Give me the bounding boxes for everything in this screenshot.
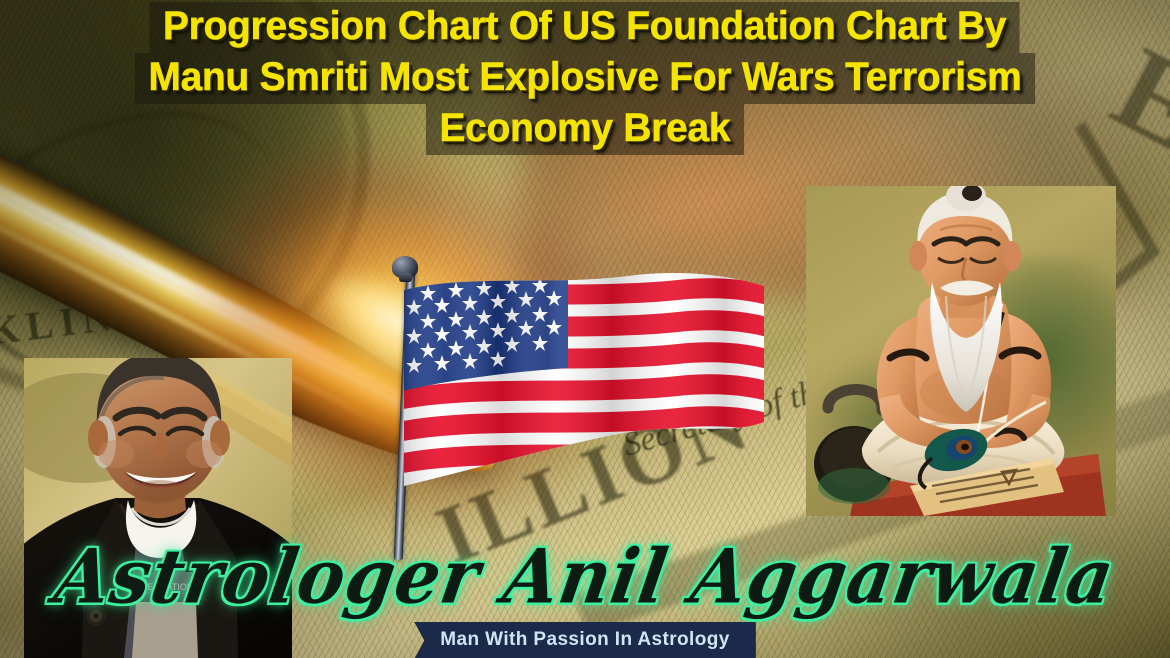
tagline-text: Man With Passion In Astrology bbox=[414, 622, 755, 658]
title-line-2: Manu Smriti Most Explosive For Wars Terr… bbox=[135, 53, 1035, 104]
tagline-ribbon: Man With Passion In Astrology bbox=[0, 622, 1170, 658]
astrologer-portrait-group: OLIVE STATION bbox=[24, 358, 292, 658]
ribbon-notch-left-icon bbox=[400, 622, 416, 658]
sage-figure-icon bbox=[806, 186, 1116, 516]
title-line-1: Progression Chart Of US Foundation Chart… bbox=[150, 2, 1020, 53]
svg-text:OLIVE STATION: OLIVE STATION bbox=[127, 582, 194, 592]
astrologer-portrait-icon: OLIVE STATION bbox=[24, 358, 292, 658]
us-flag-group bbox=[378, 250, 768, 550]
poster-canvas: KLIN 2 ILLION Treas Secretary of the E bbox=[0, 0, 1170, 658]
us-flag-icon bbox=[398, 272, 768, 552]
title-block: Progression Chart Of US Foundation Chart… bbox=[0, 0, 1170, 155]
sage-manu-group bbox=[806, 186, 1116, 516]
ribbon-notch-right-icon bbox=[754, 622, 770, 658]
title-line-3: Economy Break bbox=[426, 104, 744, 155]
